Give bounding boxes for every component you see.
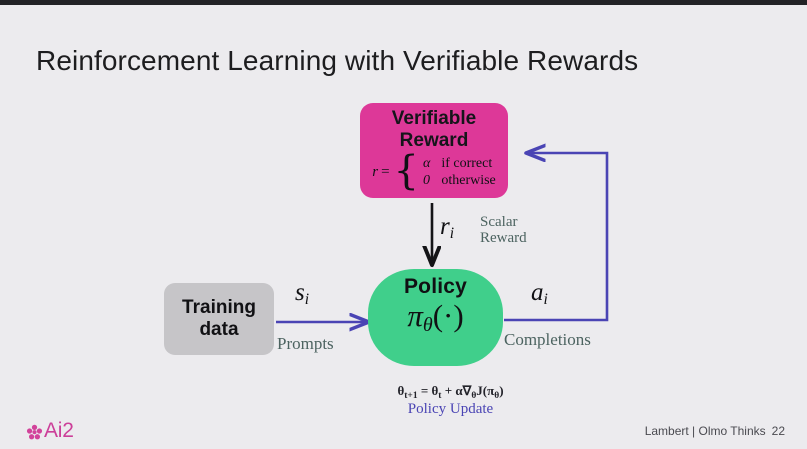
policy-node: Policy πθ(·) [368,269,503,366]
reward-symbol-label: ri [440,213,454,243]
footer-credit: Lambert | Olmo Thinks22 [645,424,785,438]
reward-caption-line-1: Scalar [480,214,527,230]
policy-theta-subscript: θ [423,314,433,336]
page-title: Reinforcement Learning with Verifiable R… [36,45,638,77]
policy-pi: π [407,298,423,333]
reward-title-line-1: Verifiable [360,108,508,130]
update-tail: + α∇ [441,383,471,398]
reward-case-cond-2: otherwise [441,172,495,189]
reward-symbol-subscript: i [450,225,454,242]
reward-formula-brace: { [394,159,419,184]
reward-formula-lhs: r [372,164,378,181]
ai2-flower-icon [26,422,43,441]
policy-update-group: θt+1 = θt + α∇θJ(πθ) Policy Update [343,383,558,418]
policy-node-title: Policy [368,275,503,299]
footer-credit-text: Lambert | Olmo Thinks [645,424,766,438]
prompt-symbol-label: si [295,279,309,309]
completion-symbol: a [531,279,544,306]
completion-symbol-subscript: i [544,291,548,308]
reward-case-value-1: α [423,155,430,172]
training-label-line-1: Training [182,297,256,319]
policy-argument: (·) [433,298,464,333]
prompt-symbol-subscript: i [305,291,309,308]
verifiable-reward-node: Verifiable Reward r = { α if correct 0 o… [360,103,508,198]
policy-node-math: πθ(·) [368,300,503,336]
prompt-caption: Prompts [277,334,334,354]
training-data-node: Training data [164,283,274,355]
reward-caption-line-2: Reward [480,230,527,246]
reward-node-title: Verifiable Reward [360,108,508,152]
policy-update-label: Policy Update [343,401,558,418]
completion-caption: Completions [504,330,591,350]
ai2-logo-text: Ai2 [44,419,74,443]
update-end: J(π [476,383,494,398]
update-close: ) [499,383,503,398]
top-bar [0,0,807,5]
policy-update-formula: θt+1 = θt + α∇θJ(πθ) [343,383,558,401]
reward-case-cond-1: if correct [441,155,495,172]
reward-formula: r = { α if correct 0 otherwise [360,155,508,189]
training-label-line-2: data [182,319,256,341]
page-number: 22 [772,424,785,438]
reward-formula-cases: α if correct 0 otherwise [423,155,496,189]
reward-caption: Scalar Reward [480,214,527,246]
slide-canvas: Reinforcement Learning with Verifiable R… [0,0,807,449]
update-mid: = θ [418,383,439,398]
completion-symbol-label: ai [531,279,548,309]
reward-case-value-2: 0 [423,172,430,189]
training-data-label: Training data [182,297,256,342]
reward-title-line-2: Reward [360,130,508,152]
reward-formula-equals: = [381,164,389,181]
ai2-logo: Ai2 [26,419,74,443]
update-sub-1: t+1 [404,391,417,401]
prompt-symbol: s [295,279,305,306]
reward-symbol: r [440,213,450,240]
